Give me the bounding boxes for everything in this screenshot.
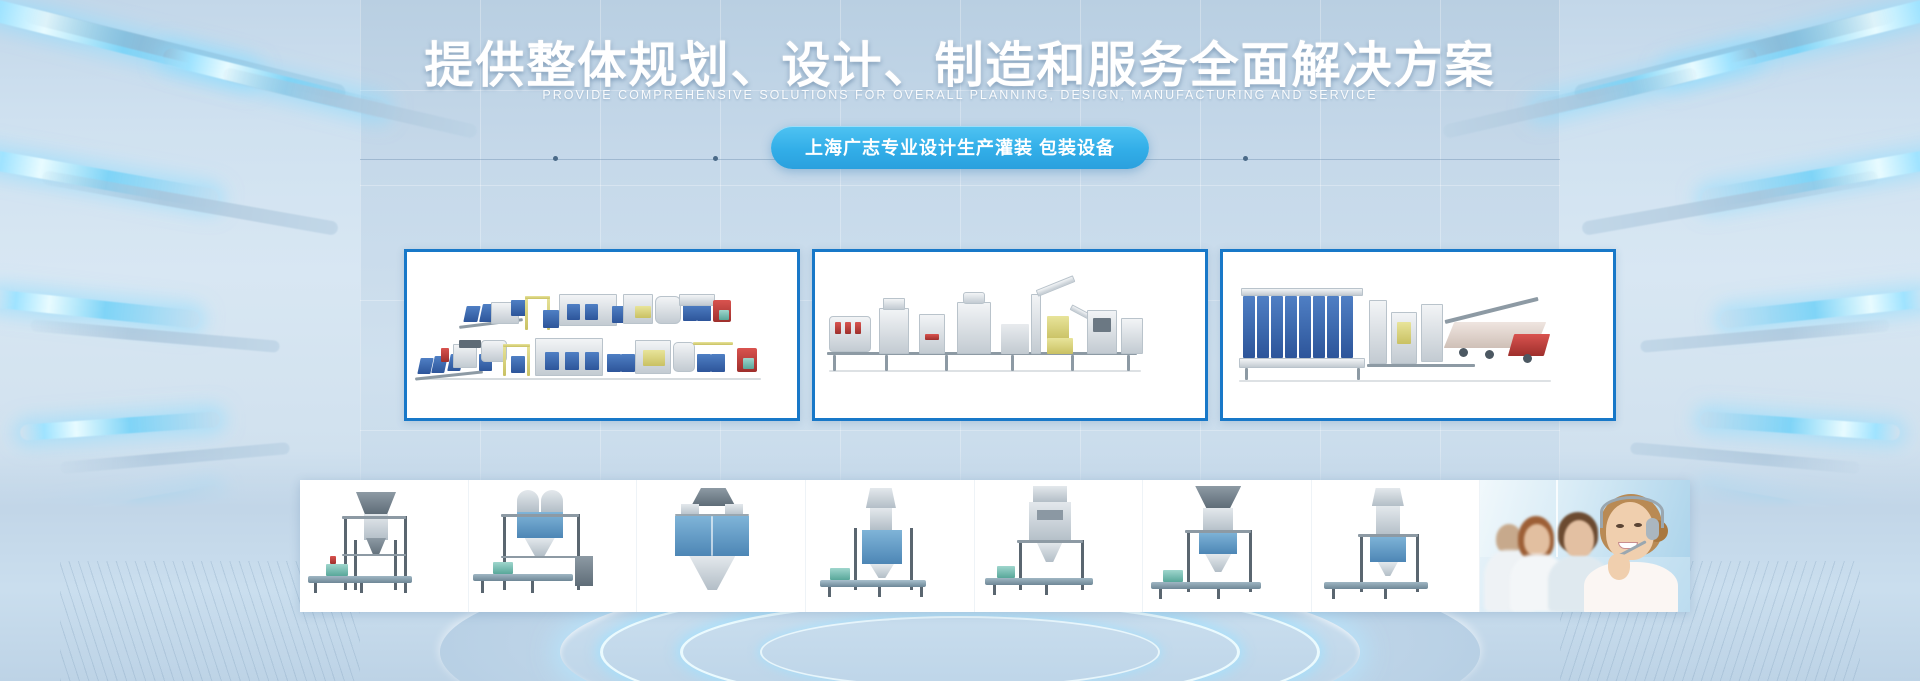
panel-image: [407, 252, 797, 418]
thumbnail-strip: [300, 480, 1690, 612]
panel-image: [1223, 252, 1613, 418]
thumb-belt-packer-3[interactable]: [1142, 480, 1311, 612]
headset-earpiece: [1646, 518, 1659, 540]
neon-tube-dim: [41, 170, 339, 236]
neon-tube-light: [1700, 411, 1901, 441]
thumb-image: [300, 480, 468, 612]
thumb-image: [469, 480, 637, 612]
agent-head-back-3: [1564, 520, 1594, 558]
agent-head-back-2: [1524, 524, 1550, 556]
hero-banner: 提供整体规划、设计、制造和服务全面解决方案 PROVIDE COMPREHENS…: [0, 0, 1920, 681]
thumb-belt-packer-4[interactable]: [1311, 480, 1480, 612]
wall-accent-dot: [1243, 156, 1248, 161]
thumb-belt-packer-1[interactable]: [805, 480, 974, 612]
panel-image: [815, 252, 1205, 418]
agent-torso-front: [1584, 562, 1678, 612]
thumb-belt-packer-2[interactable]: [974, 480, 1143, 612]
wall-accent-dot: [553, 156, 558, 161]
thumb-image: [1312, 480, 1480, 612]
neon-tube-light: [20, 411, 221, 441]
thumb-image: [806, 480, 974, 612]
thumb-image: [637, 480, 805, 612]
thumb-bagging-machine-2[interactable]: [468, 480, 637, 612]
office-window-mullion: [1556, 480, 1558, 557]
page-title: 提供整体规划、设计、制造和服务全面解决方案: [0, 26, 1920, 97]
panel-bottling-packaging-line[interactable]: [812, 249, 1208, 421]
panel-filling-production-line[interactable]: [404, 249, 800, 421]
tagline-badge[interactable]: 上海广志专业设计生产灌装 包装设备: [771, 126, 1149, 169]
featured-panels: [404, 249, 1616, 389]
thumb-image: [975, 480, 1143, 612]
neon-tube-dim: [1581, 170, 1879, 236]
neon-tube-light: [1720, 289, 1920, 329]
thumb-bagging-machine-1[interactable]: [300, 480, 468, 612]
panel-bulk-storage-loading-line[interactable]: [1220, 249, 1616, 421]
thumb-hopper-scale[interactable]: [636, 480, 805, 612]
thumb-image: [1143, 480, 1311, 612]
thumb-customer-service-team[interactable]: [1479, 480, 1690, 612]
wall-accent-dot: [713, 156, 718, 161]
page-subtitle: PROVIDE COMPREHENSIVE SOLUTIONS FOR OVER…: [0, 88, 1920, 102]
